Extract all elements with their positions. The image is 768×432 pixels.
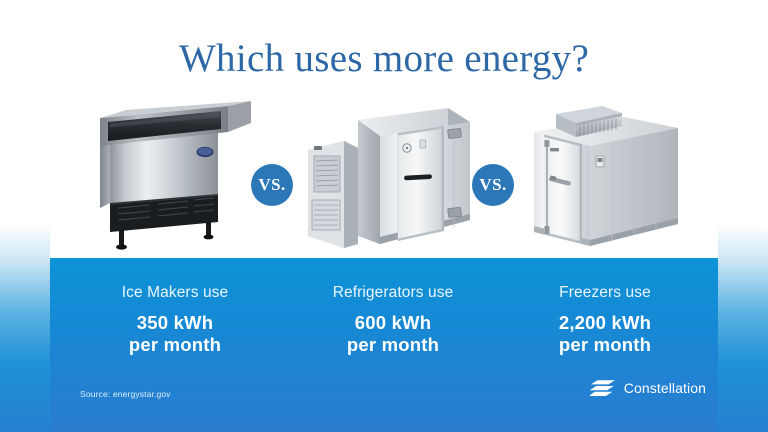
energy-comparison-infographic: Which uses more energy?: [0, 0, 768, 432]
ice-maker-appliance-icon: [88, 96, 258, 256]
stat-label-ice-makers: Ice Makers use: [60, 284, 290, 302]
brand-logo: Constellation: [590, 378, 706, 398]
walk-in-freezer-appliance-icon: [520, 96, 690, 256]
stats-row: Ice Makers use 350 kWh per month Refrige…: [50, 284, 718, 374]
appliance-row: [50, 96, 718, 256]
vs-badge-1: VS.: [251, 164, 293, 206]
right-gradient-rail: [718, 0, 768, 432]
walk-in-refrigerator-appliance-icon: [298, 96, 473, 256]
stat-value-freezers: 2,200 kWh per month: [490, 312, 720, 356]
stat-label-freezers: Freezers use: [490, 284, 720, 302]
stat-value-refrigerators: 600 kWh per month: [278, 312, 508, 356]
stat-column-ice-makers: Ice Makers use 350 kWh per month: [60, 284, 290, 356]
constellation-stripes-logo-icon: [590, 378, 616, 398]
stat-column-freezers: Freezers use 2,200 kWh per month: [490, 284, 720, 356]
brand-name: Constellation: [624, 380, 706, 396]
stat-column-refrigerators: Refrigerators use 600 kWh per month: [278, 284, 508, 356]
left-gradient-rail: [0, 0, 50, 432]
stat-amount-refrigerators: 600 kWh: [278, 312, 508, 334]
stat-label-refrigerators: Refrigerators use: [278, 284, 508, 302]
vs-badge-2: VS.: [472, 164, 514, 206]
stat-amount-ice-makers: 350 kWh: [60, 312, 290, 334]
stat-value-ice-makers: 350 kWh per month: [60, 312, 290, 356]
stats-panel: Ice Makers use 350 kWh per month Refrige…: [50, 258, 718, 432]
stat-amount-freezers: 2,200 kWh: [490, 312, 720, 334]
stat-period-freezers: per month: [490, 334, 720, 356]
stat-period-ice-makers: per month: [60, 334, 290, 356]
source-attribution: Source: energystar.gov: [80, 389, 171, 399]
stat-period-refrigerators: per month: [278, 334, 508, 356]
page-title: Which uses more energy?: [50, 36, 718, 81]
